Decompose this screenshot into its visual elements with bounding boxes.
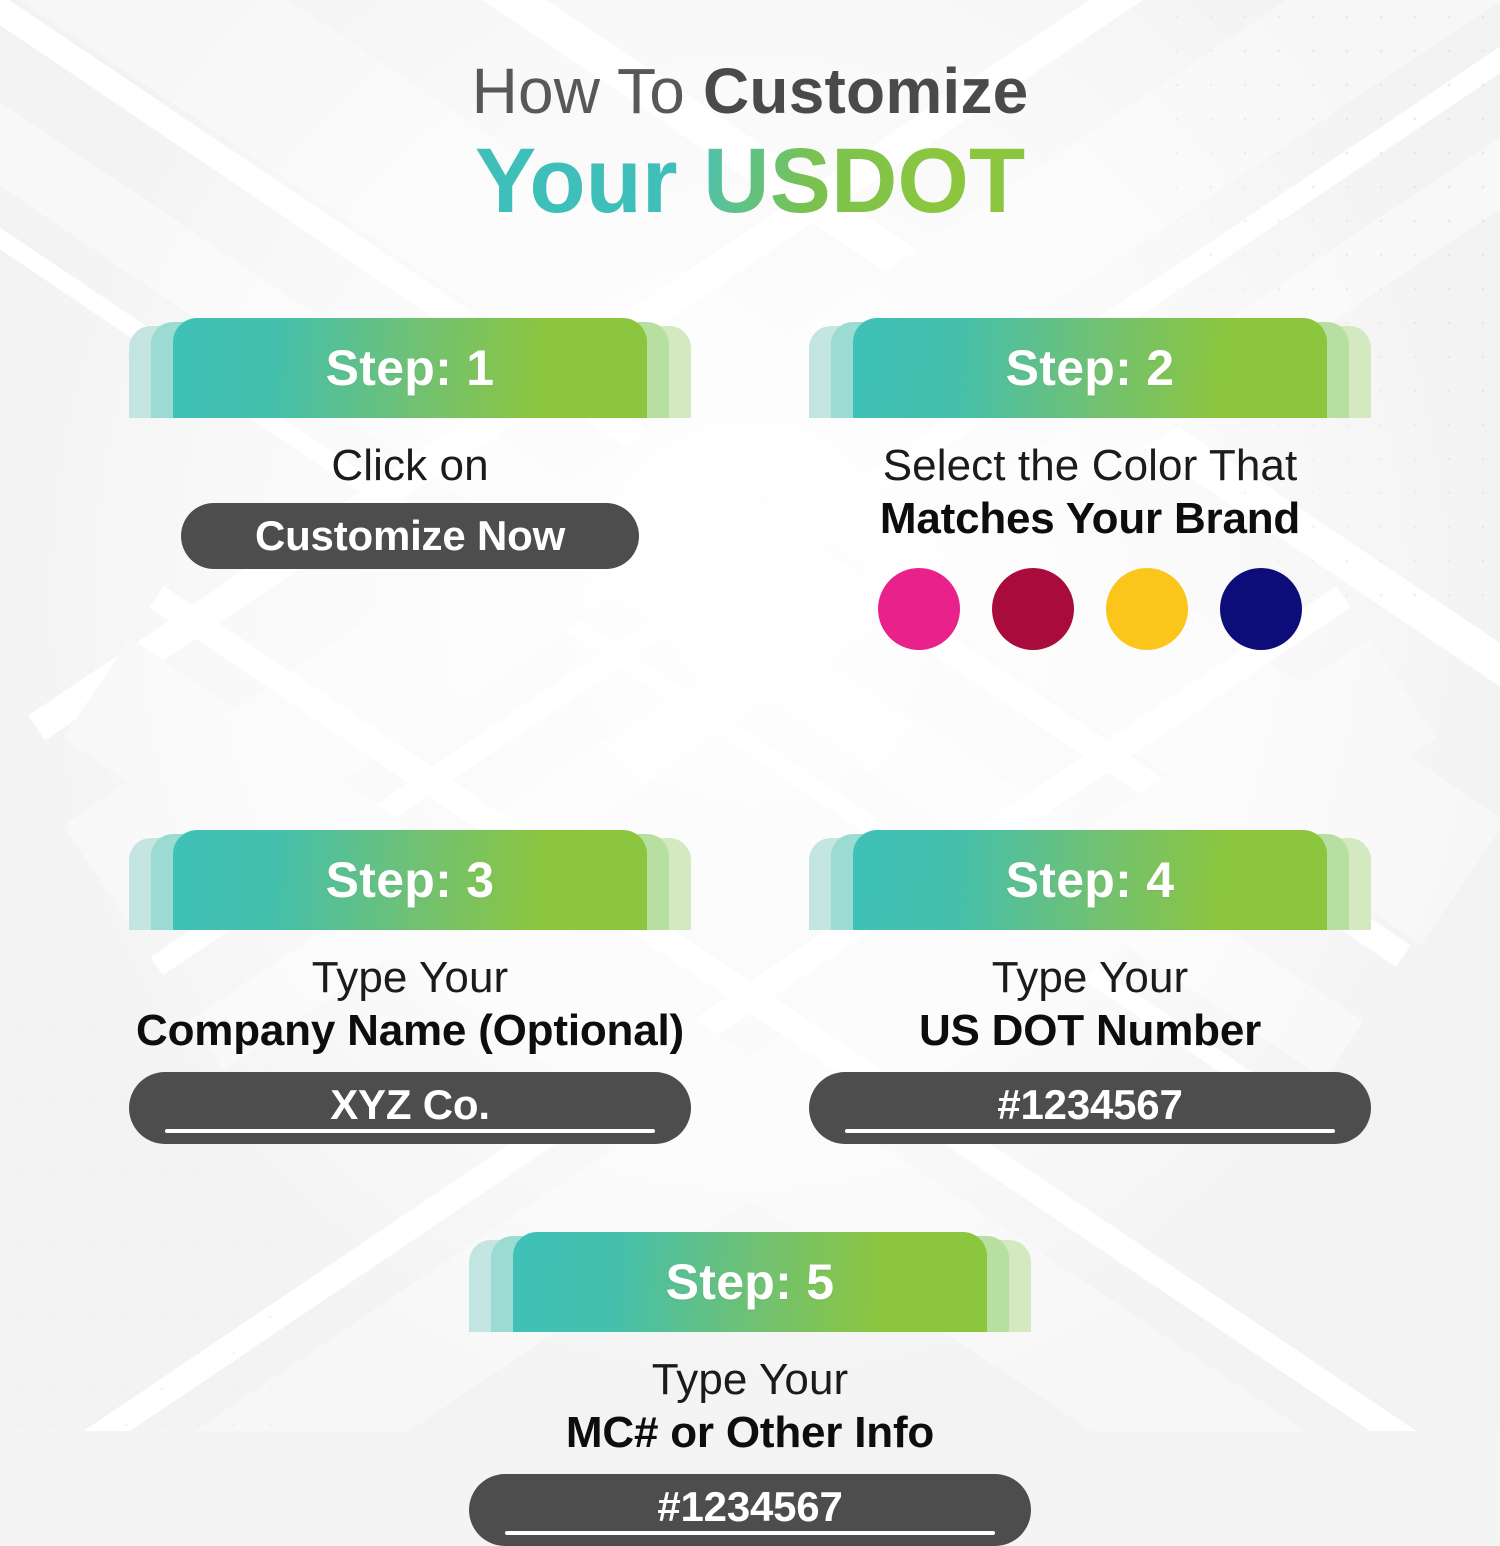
step-3-text-light: Type Your: [129, 952, 691, 1003]
step-4-banner: Step: 4: [809, 830, 1371, 930]
mc-number-value: #1234567: [657, 1483, 842, 1531]
title-usdot: USDOT: [703, 130, 1025, 232]
banner-main-layer: Step: 1: [173, 318, 647, 418]
step-card-2: Step: 2 Select the Color That Matches Yo…: [809, 318, 1371, 650]
step-2-text-light: Select the Color That: [809, 440, 1371, 491]
step-4-body: Type Your US DOT Number #1234567: [809, 930, 1371, 1144]
step-5-text-light: Type Your: [469, 1354, 1031, 1405]
step-2-label: Step: 2: [1006, 339, 1175, 397]
color-swatch-navy[interactable]: [1220, 568, 1302, 650]
page-title-line-2: Your USDOT: [0, 132, 1500, 231]
step-card-5: Step: 5 Type Your MC# or Other Info #123…: [469, 1232, 1031, 1546]
step-row-2: Step: 3 Type Your Company Name (Optional…: [0, 830, 1500, 1144]
banner-main-layer: Step: 5: [513, 1232, 987, 1332]
step-2-text-bold: Matches Your Brand: [809, 493, 1371, 544]
step-1-label: Step: 1: [326, 339, 495, 397]
company-name-value: XYZ Co.: [330, 1081, 490, 1129]
steps-container: Step: 1 Click on Customize Now Step: 2: [0, 318, 1500, 1546]
step-1-body: Click on Customize Now: [129, 418, 691, 569]
step-3-text-bold: Company Name (Optional): [129, 1005, 691, 1056]
customize-now-button[interactable]: Customize Now: [181, 503, 639, 569]
step-4-text-bold: US DOT Number: [809, 1005, 1371, 1056]
step-card-1: Step: 1 Click on Customize Now: [129, 318, 691, 650]
step-card-4: Step: 4 Type Your US DOT Number #1234567: [809, 830, 1371, 1144]
title-your: Your: [475, 130, 703, 232]
step-1-text-light: Click on: [129, 440, 691, 491]
input-underline: [845, 1129, 1335, 1133]
step-card-3: Step: 3 Type Your Company Name (Optional…: [129, 830, 691, 1144]
customize-now-label: Customize Now: [255, 512, 565, 560]
color-swatch-yellow[interactable]: [1106, 568, 1188, 650]
company-name-input[interactable]: XYZ Co.: [129, 1072, 691, 1144]
color-swatch-pink[interactable]: [878, 568, 960, 650]
usdot-number-value: #1234567: [997, 1081, 1182, 1129]
usdot-number-input[interactable]: #1234567: [809, 1072, 1371, 1144]
step-4-text-light: Type Your: [809, 952, 1371, 1003]
step-1-banner: Step: 1: [129, 318, 691, 418]
title-how-to: How To: [472, 55, 703, 127]
step-row-3: Step: 5 Type Your MC# or Other Info #123…: [0, 1232, 1500, 1546]
title-customize: Customize: [703, 55, 1028, 127]
header: How To Customize Your USDOT: [0, 0, 1500, 231]
mc-number-input[interactable]: #1234567: [469, 1474, 1031, 1546]
step-3-body: Type Your Company Name (Optional) XYZ Co…: [129, 930, 691, 1144]
infographic-content: How To Customize Your USDOT Step: 1 Clic…: [0, 0, 1500, 1431]
step-3-banner: Step: 3: [129, 830, 691, 930]
step-3-label: Step: 3: [326, 851, 495, 909]
step-5-banner: Step: 5: [469, 1232, 1031, 1332]
step-row-1: Step: 1 Click on Customize Now Step: 2: [0, 318, 1500, 650]
step-5-text-bold: MC# or Other Info: [469, 1407, 1031, 1458]
step-4-label: Step: 4: [1006, 851, 1175, 909]
page-title-line-1: How To Customize: [0, 58, 1500, 126]
step-2-banner: Step: 2: [809, 318, 1371, 418]
step-5-body: Type Your MC# or Other Info #1234567: [469, 1332, 1031, 1546]
banner-main-layer: Step: 2: [853, 318, 1327, 418]
color-swatch-crimson[interactable]: [992, 568, 1074, 650]
step-5-label: Step: 5: [666, 1253, 835, 1311]
step-2-body: Select the Color That Matches Your Brand: [809, 418, 1371, 650]
banner-main-layer: Step: 4: [853, 830, 1327, 930]
input-underline: [165, 1129, 655, 1133]
color-swatch-row: [809, 568, 1371, 650]
banner-main-layer: Step: 3: [173, 830, 647, 930]
input-underline: [505, 1531, 995, 1535]
